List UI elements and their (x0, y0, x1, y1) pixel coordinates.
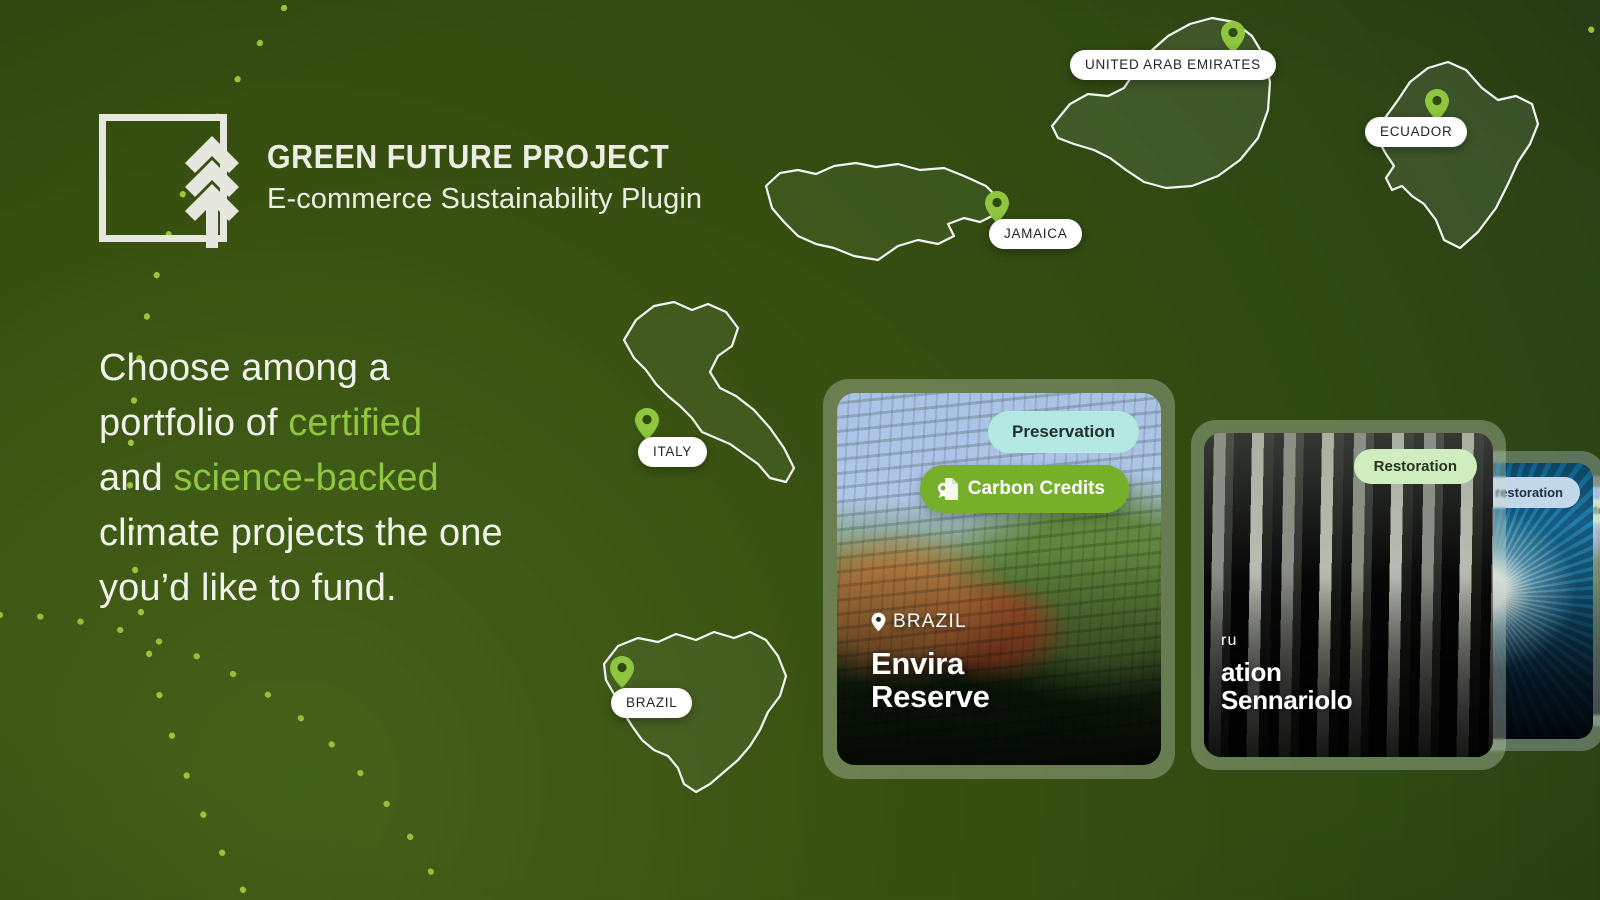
card-2-title-line-2: Sennariolo (1221, 687, 1352, 715)
project-card-1-featured[interactable]: Preservation Carbon Credits (823, 379, 1175, 779)
card-2-country: ru (1221, 632, 1238, 650)
card-2-title-line-1: ation (1221, 659, 1352, 687)
headline: Choose among a portfolio of certified an… (99, 341, 619, 616)
project-card-stack: Preserva lé e Restoration (823, 379, 1600, 779)
map-label-brazil[interactable]: BRAZIL (611, 688, 692, 718)
card-2-type-badge[interactable]: Restoration (1354, 449, 1477, 484)
map-country-ecuador (1352, 48, 1552, 263)
map-pin-icon-uae[interactable] (1220, 20, 1246, 54)
card-1-carbon-credits-badge[interactable]: Carbon Credits (920, 465, 1129, 513)
map-pin-icon-card-1 (871, 612, 886, 632)
headline-line-2-prefix: portfolio of (99, 402, 288, 444)
square-pine-tree-logo-icon (99, 114, 249, 242)
brand-subtitle: E-commerce Sustainability Plugin (267, 182, 704, 217)
card-1-title-line-2: Reserve (871, 680, 990, 713)
headline-accent-certified: certified (288, 402, 422, 444)
headline-line-1: Choose among a (99, 347, 390, 389)
map-label-ecuador[interactable]: ECUADOR (1365, 117, 1467, 147)
map-pin-icon-brazil[interactable] (609, 655, 635, 689)
brand-name: GREEN FUTURE PROJECT (267, 139, 669, 175)
headline-line-5: you’d like to fund. (99, 567, 397, 609)
card-1-type-badge[interactable]: Preservation (988, 411, 1139, 453)
map-pin-icon-italy[interactable] (634, 407, 660, 441)
card-1-country-row: BRAZIL (871, 611, 990, 633)
hero-banner: UNITED ARAB EMIRATES ECUADOR JAMAICA ITA… (0, 0, 1600, 900)
map-country-jamaica (758, 148, 1008, 263)
card-1-country-label: BRAZIL (893, 611, 967, 633)
pine-tree-icon (181, 136, 243, 248)
card-1-title: Envira Reserve (871, 647, 990, 713)
brand-logo-block: GREEN FUTURE PROJECT E-commerce Sustaina… (99, 114, 704, 242)
headline-accent-science-backed: science-backed (173, 457, 438, 499)
certificate-seal-icon (936, 476, 960, 502)
map-label-jamaica[interactable]: JAMAICA (989, 219, 1082, 249)
map-label-united-arab-emirates[interactable]: UNITED ARAB EMIRATES (1070, 50, 1276, 80)
headline-line-4: climate projects the one (99, 512, 503, 554)
headline-line-3-prefix: and (99, 457, 173, 499)
card-1-carbon-credits-label: Carbon Credits (968, 478, 1105, 500)
card-1-title-line-1: Envira (871, 647, 990, 680)
map-label-italy[interactable]: ITALY (638, 437, 707, 467)
project-card-2[interactable]: Restoration ru ation Sennariolo (1191, 420, 1506, 770)
